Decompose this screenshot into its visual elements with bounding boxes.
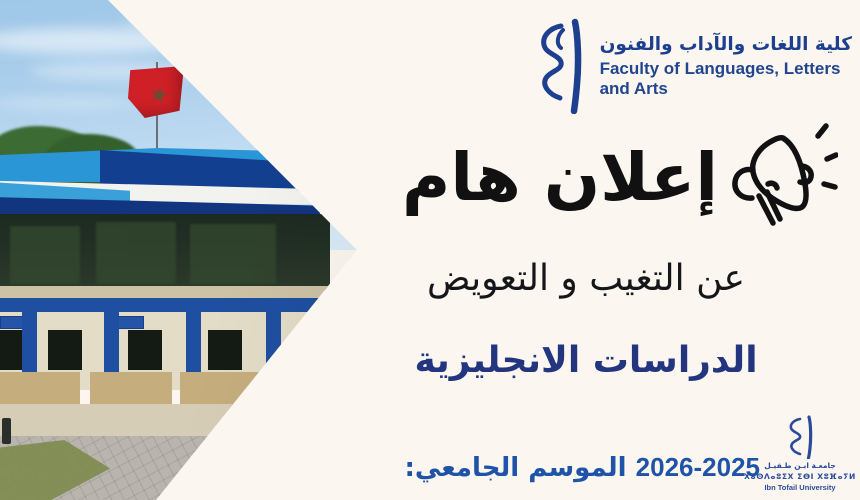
brick-base <box>270 372 340 410</box>
faculty-calligraphy-mark <box>528 18 590 114</box>
faculty-name-english-line1: Faculty of Languages, Letters <box>600 59 841 78</box>
program-name: الدراسات الانجليزية <box>336 338 836 385</box>
academic-season: 2026-2025 الموسم الجامعي: <box>405 452 760 484</box>
faculty-name-english-line2: and Arts <box>600 79 668 98</box>
photo-sky-layer <box>0 0 360 500</box>
announcement-subject: عن التغيب و التعويض <box>336 256 836 303</box>
ibn-tofail-calligraphy-mark <box>783 415 817 459</box>
season-year: 2026-2025 <box>636 452 760 482</box>
faculty-logo: كلية اللغات والآداب والفنون Faculty of L… <box>528 18 852 114</box>
headline-text: إعلان هام <box>402 143 718 212</box>
faculty-name-english: Faculty of Languages, Letters and Arts <box>600 59 852 100</box>
university-name-arabic: جامعـة ابـن طـفيـل <box>764 461 835 470</box>
university-name-english: Ibn Tofail University <box>764 483 835 492</box>
megaphone-icon <box>726 122 838 228</box>
season-label: الموسم الجامعي: <box>405 453 627 483</box>
campus-building-photo <box>0 0 360 500</box>
cloud <box>120 14 280 34</box>
faculty-logo-text: كلية اللغات والآداب والفنون Faculty of L… <box>600 33 852 100</box>
announcement-poster: كلية اللغات والآداب والفنون Faculty of L… <box>0 0 860 500</box>
university-logo: جامعـة ابـن طـفيـل ⵝⴰⵙⴷⴰⵓⵉⵝ ⵉⴱⵏ ⵝⵓⴼⴰⵢⵍ I… <box>752 415 848 492</box>
headline-row: إعلان هام <box>338 128 838 228</box>
university-name-tifinagh: ⵝⴰⵙⴷⴰⵓⵉⵝ ⵉⴱⵏ ⵝⵓⴼⴰⵢⵍ <box>744 472 856 481</box>
photo-shading-overlay <box>0 0 360 500</box>
faculty-name-arabic: كلية اللغات والآداب والفنون <box>600 33 852 56</box>
